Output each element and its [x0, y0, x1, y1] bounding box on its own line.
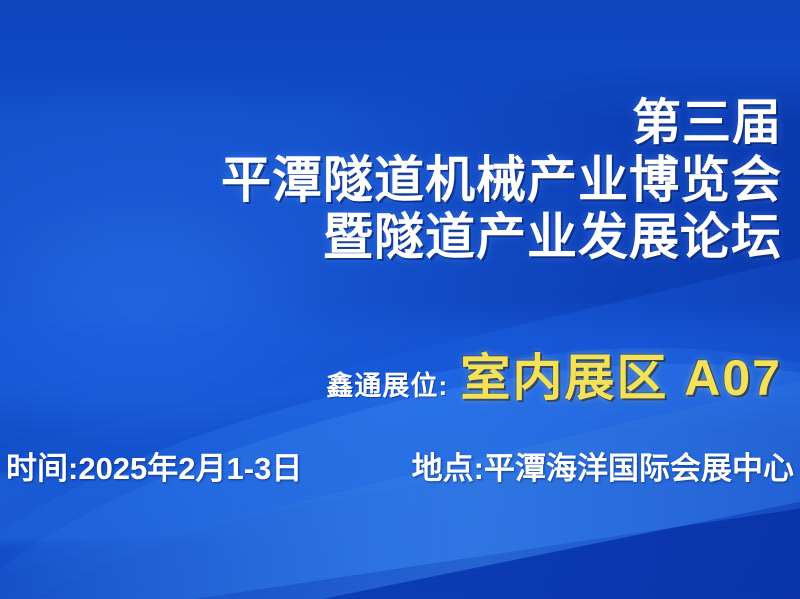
event-venue: 地点:平潭海洋国际会展中心 — [412, 443, 794, 488]
booth-label: 鑫通展位: — [326, 364, 448, 403]
title-line-expo: 平潭隧道机械产业博览会 — [221, 154, 782, 207]
event-meta: 时间:2025年2月1-3日 地点:平潭海洋国际会展中心 — [6, 443, 794, 488]
booth-info: 鑫通展位: 室内展区 A07 — [326, 338, 782, 410]
title-line-edition: 第三届 — [221, 98, 782, 150]
poster-content: 第三届 平潭隧道机械产业博览会 暨隧道产业发展论坛 鑫通展位: 室内展区 A07… — [0, 0, 800, 599]
title-line-forum: 暨隧道产业发展论坛 — [221, 211, 782, 264]
event-date: 时间:2025年2月1-3日 — [6, 443, 302, 488]
exhibition-poster: 第三届 平潭隧道机械产业博览会 暨隧道产业发展论坛 鑫通展位: 室内展区 A07… — [0, 0, 800, 599]
booth-number: 室内展区 A07 — [460, 338, 782, 410]
event-title: 第三届 平潭隧道机械产业博览会 暨隧道产业发展论坛 — [221, 98, 782, 264]
